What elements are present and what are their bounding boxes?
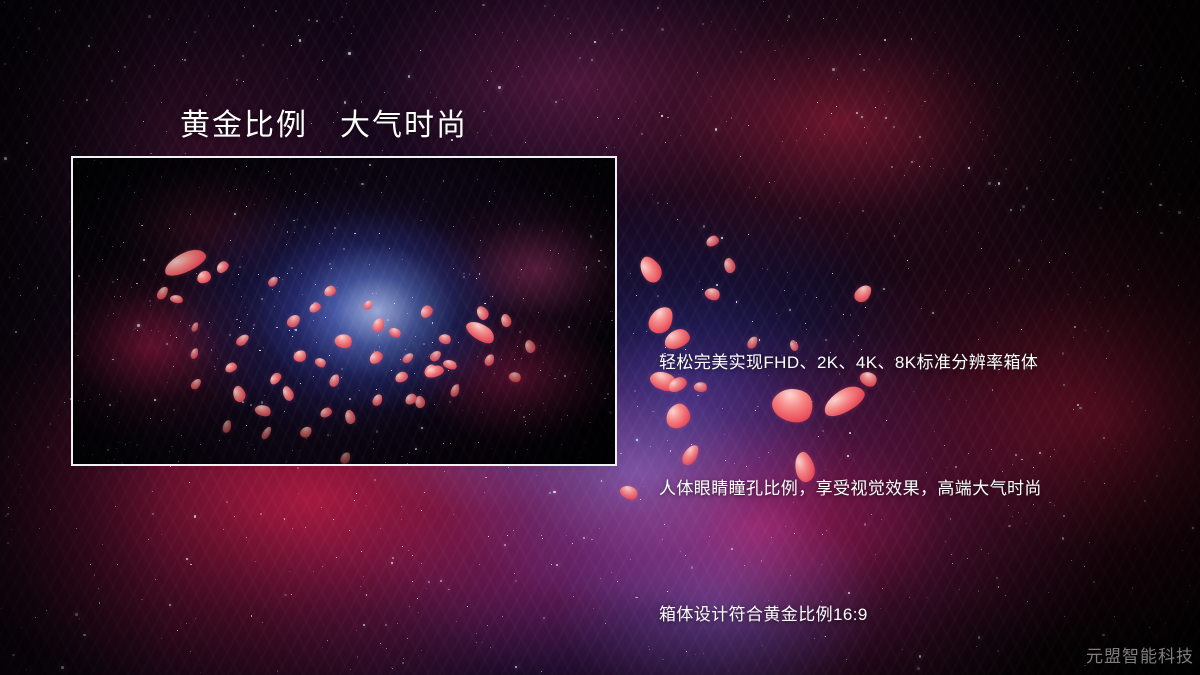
petal-shape bbox=[618, 482, 640, 503]
nebula-image-panel bbox=[71, 156, 617, 466]
body-line-2: 人体眼睛瞳孔比例，享受视觉效果，高端大气时尚 bbox=[659, 468, 1042, 510]
body-line-1: 轻松完美实现FHD、2K、4K、8K标准分辨率箱体 bbox=[659, 342, 1042, 384]
watermark-label: 元盟智能科技 bbox=[1086, 642, 1194, 667]
page-title: 黄金比例 大气时尚 bbox=[180, 100, 468, 144]
panel-vignette bbox=[73, 158, 615, 464]
petal-shape bbox=[705, 234, 720, 248]
body-line-3: 箱体设计符合黄金比例16:9 bbox=[659, 594, 1042, 636]
slide-canvas: 黄金比例 大气时尚 轻松完美实现FHD、2K、4K、8K标准分辨率箱体 人体眼睛… bbox=[0, 0, 1200, 675]
body-text-block: 轻松完美实现FHD、2K、4K、8K标准分辨率箱体 人体眼睛瞳孔比例，享受视觉效… bbox=[659, 258, 1042, 675]
